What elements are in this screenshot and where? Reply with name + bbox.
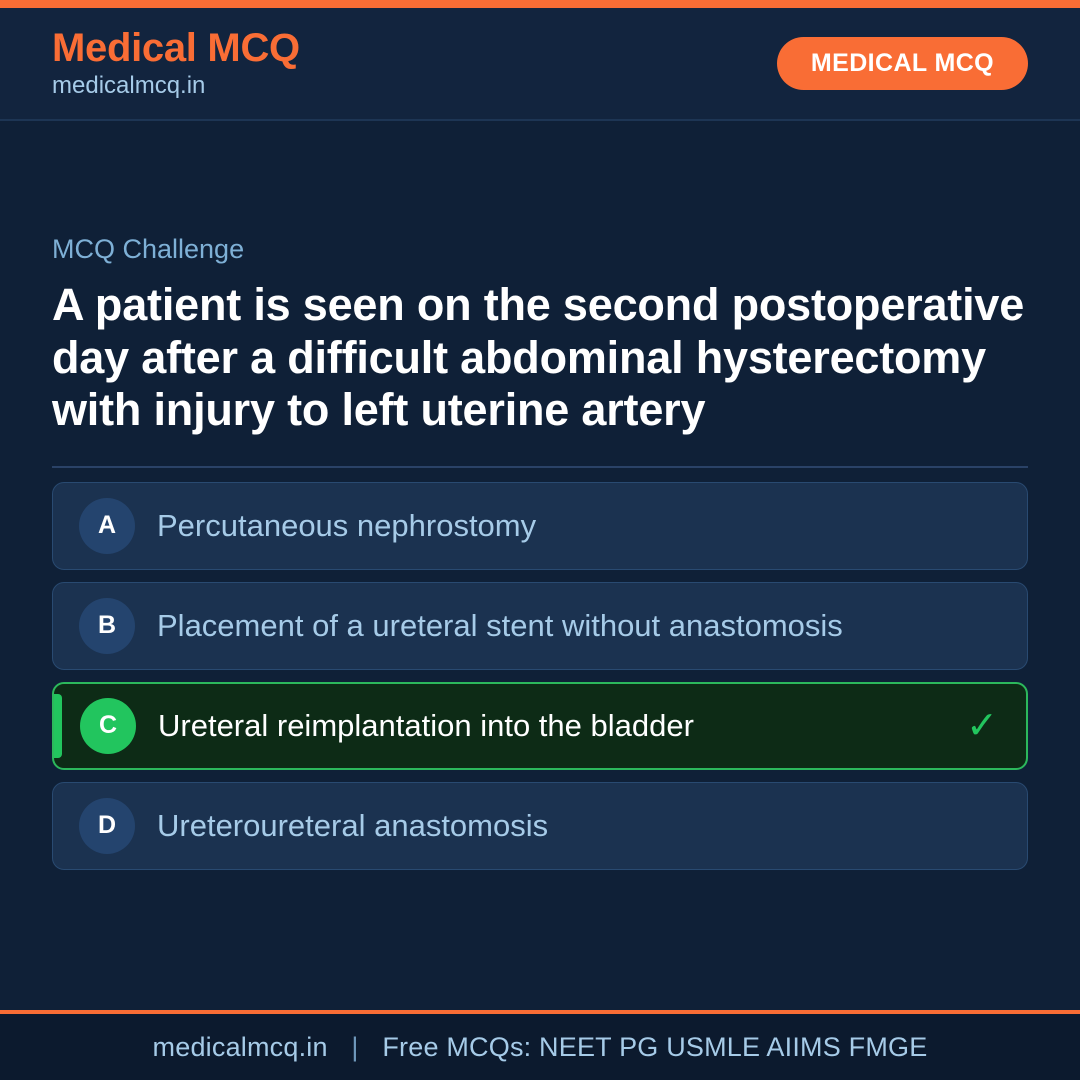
main-content: MCQ Challenge A patient is seen on the s… [0, 121, 1080, 1010]
option-a[interactable]: A Percutaneous nephrostomy [52, 482, 1028, 570]
option-d-text: Ureteroureteral anastomosis [157, 806, 963, 846]
brand-subtitle: medicalmcq.in [52, 72, 300, 101]
option-b-letter: B [79, 598, 135, 654]
footer: medicalmcq.in | Free MCQs: NEET PG USMLE… [0, 1010, 1080, 1080]
header-badge: MEDICAL MCQ [777, 37, 1028, 90]
option-b[interactable]: B Placement of a ureteral stent without … [52, 582, 1028, 670]
top-accent-bar [0, 0, 1080, 8]
correct-accent-bar [54, 694, 62, 758]
option-d-letter: D [79, 798, 135, 854]
option-d[interactable]: D Ureteroureteral anastomosis [52, 782, 1028, 870]
options-list: A Percutaneous nephrostomy B Placement o… [52, 482, 1028, 870]
footer-exams: Free MCQs: NEET PG USMLE AIIMS FMGE [382, 1032, 927, 1062]
option-c-letter: C [80, 698, 136, 754]
header: Medical MCQ medicalmcq.in MEDICAL MCQ [0, 8, 1080, 121]
footer-site: medicalmcq.in [153, 1032, 328, 1062]
option-c[interactable]: C Ureteral reimplantation into the bladd… [52, 682, 1028, 770]
eyebrow-label: MCQ Challenge [52, 233, 1028, 265]
mcq-card: Medical MCQ medicalmcq.in MEDICAL MCQ MC… [0, 0, 1080, 1080]
option-a-text: Percutaneous nephrostomy [157, 506, 963, 546]
option-c-text: Ureteral reimplantation into the bladder [158, 706, 962, 746]
footer-text: medicalmcq.in | Free MCQs: NEET PG USMLE… [153, 1032, 928, 1063]
option-b-text: Placement of a ureteral stent without an… [157, 606, 963, 646]
question-divider [52, 466, 1028, 468]
option-a-letter: A [79, 498, 135, 554]
brand-block: Medical MCQ medicalmcq.in [52, 27, 300, 101]
brand-title: Medical MCQ [52, 27, 300, 70]
question-text: A patient is seen on the second postoper… [52, 279, 1028, 436]
check-icon: ✓ [962, 707, 1002, 745]
footer-separator: | [335, 1032, 374, 1062]
